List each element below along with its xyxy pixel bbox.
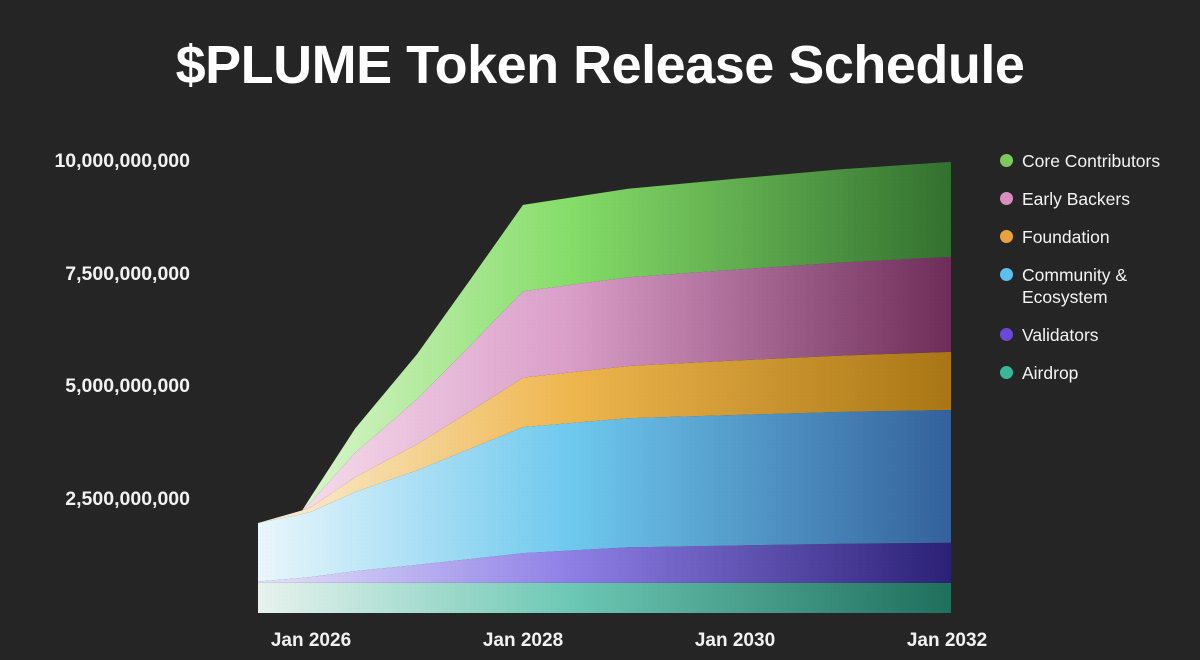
- x-axis-tick-label: Jan 2026: [271, 630, 351, 652]
- legend-item[interactable]: Validators: [1000, 324, 1190, 346]
- y-axis-tick-label: 10,000,000,000: [54, 150, 190, 173]
- legend-item-label: Airdrop: [1022, 362, 1078, 384]
- chart-legend: Core ContributorsEarly BackersFoundation…: [1000, 150, 1190, 400]
- legend-item[interactable]: Airdrop: [1000, 362, 1190, 384]
- y-axis-tick-label: 7,500,000,000: [65, 263, 190, 286]
- x-axis-tick-label: Jan 2030: [695, 630, 775, 652]
- legend-swatch-icon: [1000, 328, 1013, 341]
- legend-item-label: Community & Ecosystem: [1022, 264, 1177, 308]
- legend-swatch-icon: [1000, 230, 1013, 243]
- y-axis-tick-label: 5,000,000,000: [65, 375, 190, 398]
- x-axis-tick-label: Jan 2032: [907, 630, 987, 652]
- legend-item-label: Validators: [1022, 324, 1099, 346]
- legend-swatch-icon: [1000, 154, 1013, 167]
- area-band-airdrop: [258, 583, 951, 613]
- legend-swatch-icon: [1000, 366, 1013, 379]
- legend-item-label: Early Backers: [1022, 188, 1130, 210]
- legend-item-label: Foundation: [1022, 226, 1110, 248]
- chart-canvas: $PLUME Token Release Schedule 10,000,: [0, 0, 1200, 660]
- legend-swatch-icon: [1000, 192, 1013, 205]
- legend-swatch-icon: [1000, 268, 1013, 281]
- y-axis-tick-label: 2,500,000,000: [65, 488, 190, 511]
- legend-item[interactable]: Core Contributors: [1000, 150, 1190, 172]
- page-title: $PLUME Token Release Schedule: [0, 34, 1200, 96]
- legend-item[interactable]: Foundation: [1000, 226, 1190, 248]
- legend-item-label: Core Contributors: [1022, 150, 1160, 172]
- legend-item[interactable]: Community & Ecosystem: [1000, 264, 1190, 308]
- x-axis-tick-label: Jan 2028: [483, 630, 563, 652]
- legend-item[interactable]: Early Backers: [1000, 188, 1190, 210]
